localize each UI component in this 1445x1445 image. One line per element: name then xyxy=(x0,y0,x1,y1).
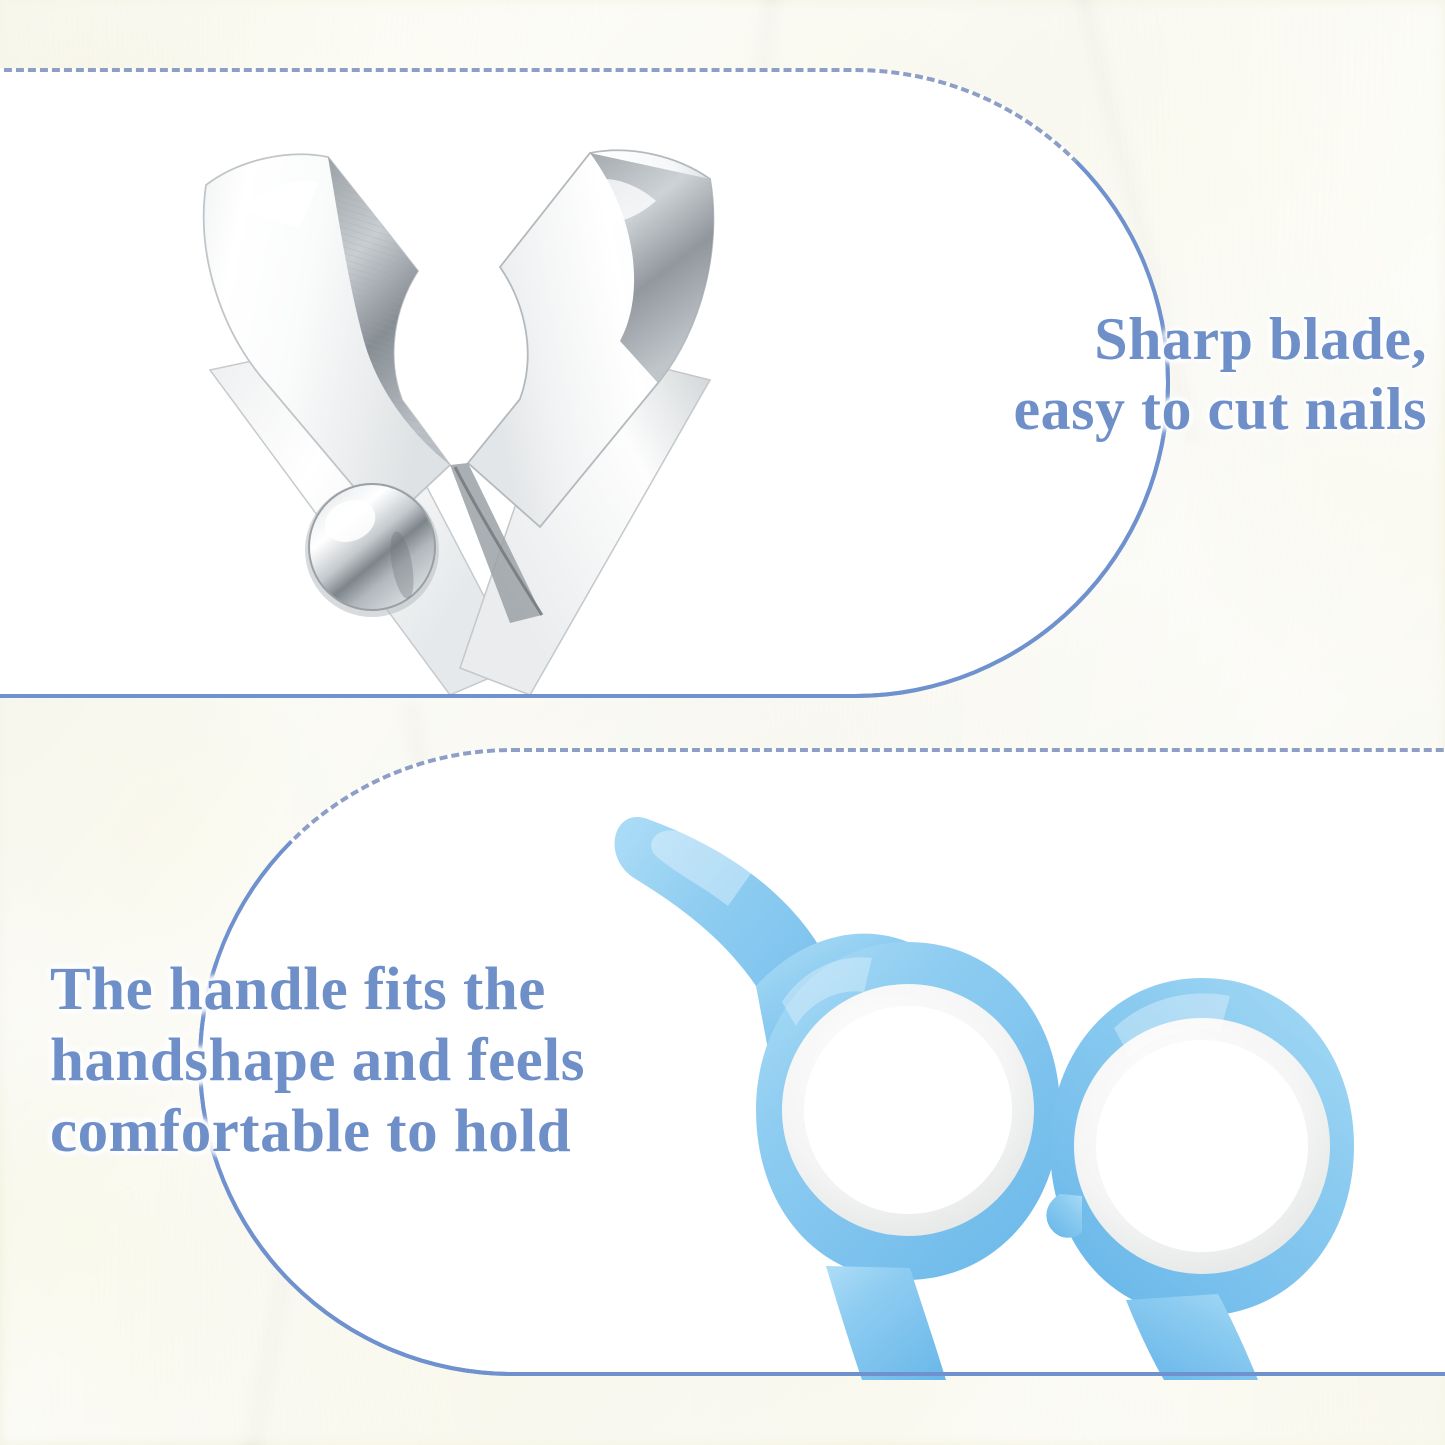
caption-handle-comfort: The handle fits the handshape and feels … xyxy=(50,955,585,1167)
infographic-canvas: Sharp blade, easy to cut nails xyxy=(0,0,1445,1445)
nail-clipper-head-image xyxy=(150,95,770,705)
silicone-handles-image xyxy=(590,760,1420,1380)
caption-sharp-blade: Sharp blade, easy to cut nails xyxy=(1014,305,1428,444)
